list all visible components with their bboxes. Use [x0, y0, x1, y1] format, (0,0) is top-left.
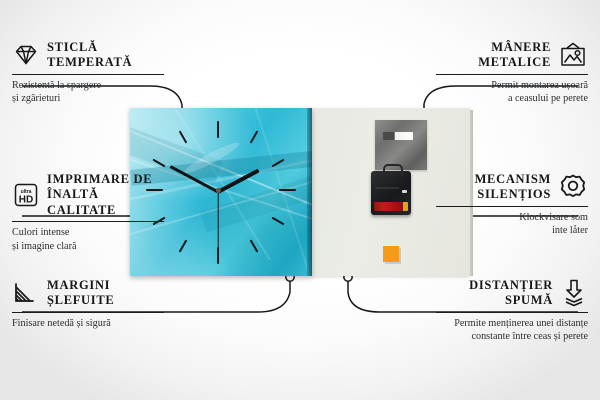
- callout-title: MÂNERE METALICE: [478, 40, 551, 71]
- callout-title-line2: SILENȚIOS: [477, 187, 551, 201]
- callout-title: MARGINI ȘLEFUITE: [47, 278, 114, 309]
- product-photo: [130, 108, 470, 276]
- clock-movement: [371, 171, 411, 215]
- callout-title-line2: SPUMĂ: [505, 293, 553, 307]
- movement-hanging-loop: [383, 164, 403, 176]
- callout-sub-line2: inte låter: [552, 225, 588, 236]
- gear-icon: [558, 173, 588, 201]
- callout-sub-line1: Rezistentă la spargere: [12, 80, 101, 91]
- callout-subtitle: Culori intense și imagine clară: [12, 226, 164, 253]
- callout-sub-line1: Permite menținerea unei distanțe: [454, 318, 588, 329]
- callout-sub-line1: Klockvisare som: [519, 212, 588, 223]
- callout-subtitle: Rezistentă la spargere și zgârieturi: [12, 79, 164, 106]
- callout-subtitle: Finisare netedă și sigură: [12, 317, 164, 330]
- callout-title: STICLĂ TEMPERATĂ: [47, 40, 132, 71]
- callout-subtitle: Permite menținerea unei distanțe constan…: [436, 317, 588, 344]
- callout-sub-line1: Finisare netedă și sigură: [12, 318, 111, 329]
- callout-title-line1: MECANISM: [475, 172, 551, 186]
- clock-center-hub: [216, 188, 221, 193]
- hanger-slot: [383, 132, 413, 140]
- polished-edge-icon: [12, 281, 40, 305]
- callout-title: IMPRIMARE DE ÎNALTĂ CALITATE: [47, 172, 164, 218]
- aa-battery: [374, 202, 408, 211]
- picture-frame-icon: [558, 42, 588, 68]
- callout-rule: [12, 74, 164, 75]
- callout-title-line2: ȘLEFUITE: [47, 293, 114, 307]
- callout-title-line2: ÎNALTĂ CALITATE: [47, 187, 116, 216]
- callout-sub-line2: și zgârieturi: [12, 93, 60, 104]
- movement-seam: [375, 187, 399, 189]
- callout-rule: [436, 312, 588, 313]
- callout-rule: [12, 221, 164, 222]
- callout-rule: [436, 206, 588, 207]
- callout-high-quality-print: ultra HD IMPRIMARE DE ÎNALTĂ CALITATE Cu…: [12, 172, 164, 253]
- metal-hanger-plate: [375, 120, 427, 170]
- callout-sub-line1: Culori intense: [12, 227, 69, 238]
- diamond-icon: [12, 43, 40, 67]
- callout-title-line1: DISTANȚIER: [469, 278, 553, 292]
- callout-polished-edges: MARGINI ȘLEFUITE Finisare netedă și sigu…: [12, 278, 164, 330]
- callout-title: DISTANȚIER SPUMĂ: [469, 278, 553, 309]
- foam-spacer-pad: [383, 246, 399, 262]
- callout-title-line2: METALICE: [478, 55, 551, 69]
- callout-title: MECANISM SILENȚIOS: [475, 172, 551, 203]
- callout-title-line1: IMPRIMARE DE: [47, 172, 152, 186]
- callout-sub-line2: și imagine clară: [12, 241, 77, 252]
- callout-foam-spacer: DISTANȚIER SPUMĂ Permite menținerea unei…: [436, 278, 588, 344]
- movement-label: [402, 190, 407, 193]
- svg-text:HD: HD: [19, 194, 33, 205]
- callout-sub-line2: a ceasului pe perete: [508, 93, 588, 104]
- callout-rule: [436, 74, 588, 75]
- ultra-hd-icon: ultra HD: [12, 182, 40, 208]
- callout-silent-mechanism: MECANISM SILENȚIOS Klockvisare som inte …: [436, 172, 588, 238]
- callout-title-line2: TEMPERATĂ: [47, 55, 132, 69]
- clock-second-hand: [217, 191, 218, 249]
- callout-subtitle: Klockvisare som inte låter: [436, 211, 588, 238]
- callout-title-line1: MARGINI: [47, 278, 110, 292]
- callout-sub-line2: constante între ceas și perete: [471, 331, 588, 342]
- callout-tempered-glass: STICLĂ TEMPERATĂ Rezistentă la spargere …: [12, 40, 164, 106]
- callout-subtitle: Permit montarea ușoară a ceasului pe per…: [436, 79, 588, 106]
- clock-hour-hand: [217, 169, 259, 194]
- callout-title-line1: STICLĂ: [47, 40, 98, 54]
- infographic-canvas: STICLĂ TEMPERATĂ Rezistentă la spargere …: [0, 0, 600, 400]
- arrow-down-layers-icon: [560, 279, 588, 307]
- callout-metal-handles: MÂNERE METALICE Permit montarea ușoară a…: [436, 40, 588, 106]
- clock-minute-hand: [170, 165, 219, 193]
- callout-sub-line1: Permit montarea ușoară: [491, 80, 588, 91]
- callout-title-line1: MÂNERE: [491, 40, 551, 54]
- callout-rule: [12, 312, 164, 313]
